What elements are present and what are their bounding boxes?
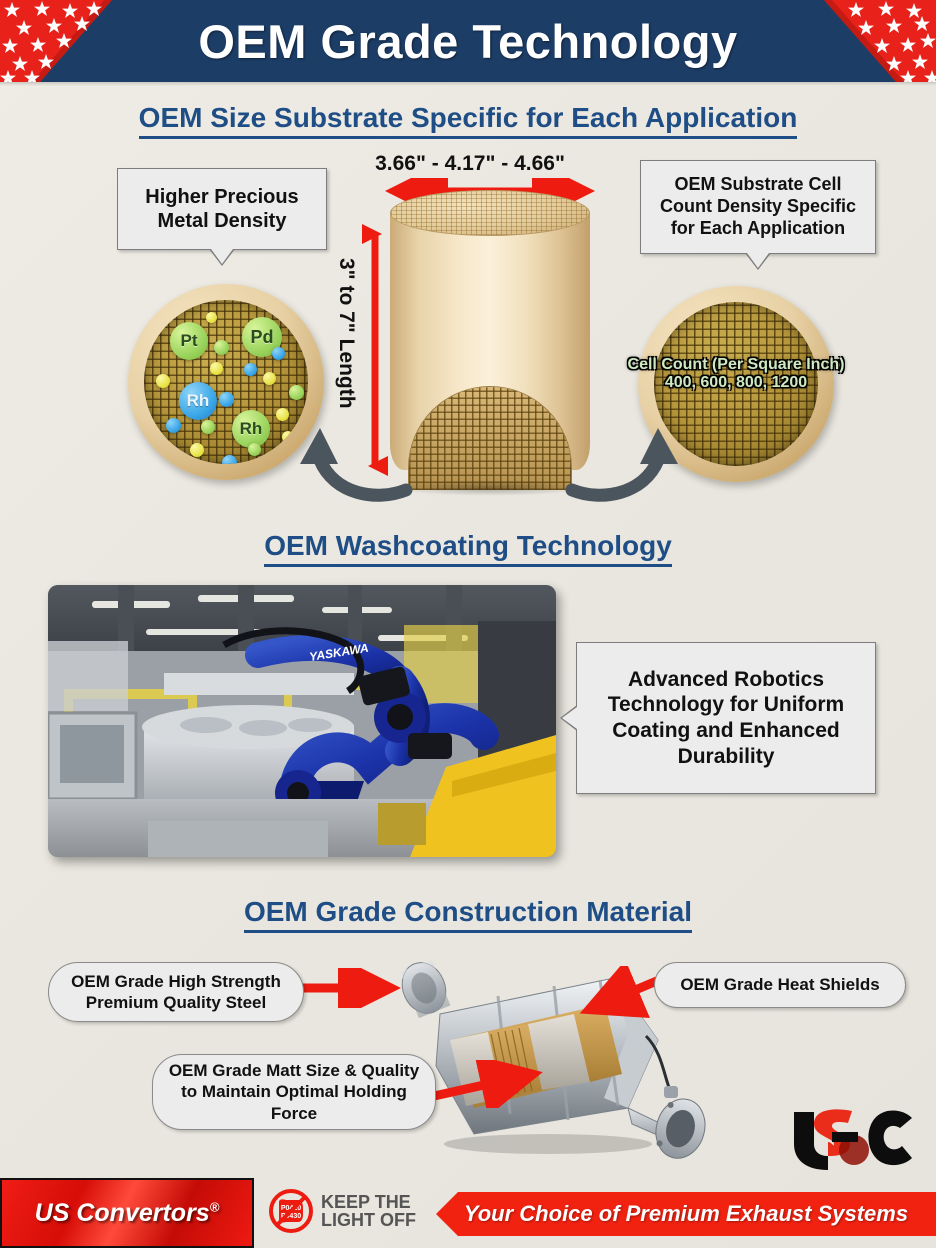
particle-dot (272, 347, 285, 360)
cylinder-cutaway (408, 386, 572, 490)
arrow-matt-icon (430, 1060, 550, 1108)
particle-dot (156, 374, 170, 388)
callout-heat-shields-text: OEM Grade Heat Shields (680, 974, 879, 995)
particle-rh: Rh (179, 382, 217, 420)
particle-pt: Pt (170, 322, 208, 360)
section-heading-washcoating-text: OEM Washcoating Technology (264, 530, 672, 567)
arrow-steel-icon (286, 968, 406, 1008)
particle-dot (214, 340, 229, 355)
cylinder-top-honeycomb (390, 190, 590, 236)
washcoating-robot-photo: YASKAWA (48, 585, 556, 857)
footer-brand-registered-mark: ® (210, 1199, 220, 1214)
callout-premium-steel-text: OEM Grade High Strength Premium Quality … (63, 971, 289, 1014)
particle-dot (190, 443, 204, 457)
no-check-engine-light-icon: P0420 P0430 (268, 1188, 314, 1234)
callout-precious-metal-density: Higher Precious Metal Density (117, 168, 327, 250)
particle-dot (244, 363, 257, 376)
cylinder-shadow (394, 480, 586, 496)
usc-logo-icon (788, 1108, 918, 1170)
precious-metal-particles: PtPdRhRh (144, 300, 308, 464)
substrate-diameter-label: 3.66" - 4.17" - 4.66" (330, 152, 610, 176)
particle-dot (166, 418, 181, 433)
connector-arrow-left-icon (288, 398, 418, 508)
callout-advanced-robotics-text: Advanced Robotics Technology for Uniform… (587, 667, 865, 769)
particle-dot (206, 312, 217, 323)
section-heading-washcoating: OEM Washcoating Technology (0, 530, 936, 562)
callout-matt-holding-force: OEM Grade Matt Size & Quality to Maintai… (152, 1054, 436, 1130)
section-heading-substrate: OEM Size Substrate Specific for Each App… (0, 102, 936, 134)
robot-photo-illustration: YASKAWA (48, 585, 556, 857)
substrate-length-label: 3" to 7" Length (334, 258, 358, 409)
particle-dot (248, 443, 261, 456)
section-heading-construction: OEM Grade Construction Material (0, 896, 936, 928)
footer-brand-block: US Convertors® (0, 1178, 254, 1248)
particle-dot (222, 455, 237, 464)
section-heading-substrate-text: OEM Size Substrate Specific for Each App… (139, 102, 798, 139)
footer-brand-text: US Convertors (35, 1199, 210, 1227)
section-heading-construction-text: OEM Grade Construction Material (244, 896, 692, 933)
callout-matt-holding-force-text: OEM Grade Matt Size & Quality to Maintai… (167, 1060, 421, 1124)
particle-dot (219, 392, 234, 407)
cell-count-values: 400, 600, 800, 1200 (586, 374, 886, 392)
cell-count-caption: Cell Count (Per Square Inch) 400, 600, 8… (586, 356, 886, 393)
footer-tagline-text: Your Choice of Premium Exhaust Systems (464, 1201, 908, 1227)
callout-premium-steel: OEM Grade High Strength Premium Quality … (48, 962, 304, 1022)
header-divider (0, 82, 936, 86)
callout-heat-shields: OEM Grade Heat Shields (654, 962, 906, 1008)
particle-dot (263, 372, 276, 385)
connector-arrow-right-icon (560, 398, 690, 508)
callout-cell-count-density-text: OEM Substrate Cell Count Density Specifi… (651, 174, 865, 240)
keep-light-off-line2: LIGHT OFF (321, 1211, 416, 1229)
particle-rh: Rh (232, 410, 270, 448)
callout-advanced-robotics: Advanced Robotics Technology for Uniform… (576, 642, 876, 794)
cell-count-title: Cell Count (Per Square Inch) (586, 356, 886, 374)
particle-dot (210, 362, 223, 375)
keep-light-off-line1: KEEP THE (321, 1193, 416, 1211)
page-header: OEM Grade Technology (0, 0, 936, 82)
particle-dot (201, 420, 215, 434)
keep-light-off-text: KEEP THE LIGHT OFF (321, 1193, 416, 1229)
disc-precious-metals-grid: PtPdRhRh (144, 300, 308, 464)
callout-precious-metal-density-text: Higher Precious Metal Density (128, 185, 316, 234)
keep-light-off-badge: P0420 P0430 KEEP THE LIGHT OFF (268, 1188, 438, 1234)
callout-cell-count-density: OEM Substrate Cell Count Density Specifi… (640, 160, 876, 254)
footer-brand-name: US Convertors® (35, 1199, 220, 1228)
cutaway-honeycomb-grid (409, 387, 571, 490)
page-title: OEM Grade Technology (0, 0, 936, 82)
infographic-page: OEM Grade Technology OEM Size Substrate … (0, 0, 936, 1248)
footer-tagline-ribbon: Your Choice of Premium Exhaust Systems (436, 1192, 936, 1236)
